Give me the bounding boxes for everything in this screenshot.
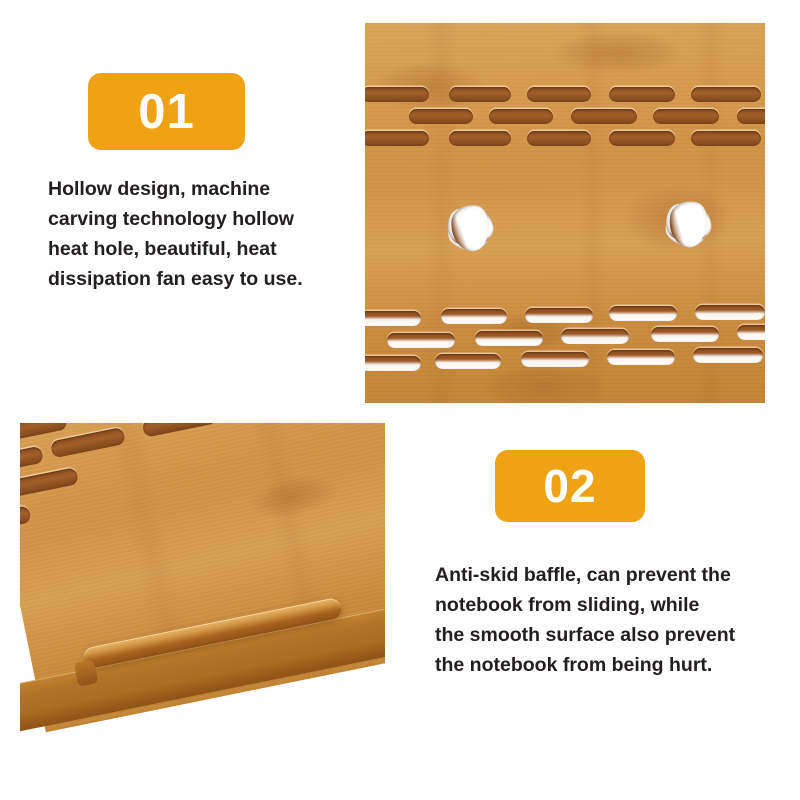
feature-photo-hollow-design [365, 23, 765, 403]
feature-caption-02-line-3: the smooth surface also prevent [435, 620, 785, 650]
vent-slot [691, 87, 761, 102]
vent-slot [365, 356, 421, 371]
feature-caption-02: Anti-skid baffle, can prevent the notebo… [435, 560, 785, 680]
feature-infographic: 01 Hollow design, machine carving techno… [0, 0, 800, 800]
feature-number-badge-02-label: 02 [543, 459, 596, 513]
flower-petal [449, 204, 490, 253]
vent-slot [561, 329, 629, 344]
feature-caption-01-line-3: heat hole, beautiful, heat [48, 234, 348, 264]
vent-slot [449, 87, 511, 102]
feature-caption-01-line-1: Hollow design, machine [48, 174, 348, 204]
feature-caption-01-line-2: carving technology hollow [48, 204, 348, 234]
vent-slot [737, 109, 765, 124]
bamboo-board [20, 423, 385, 745]
vent-slot [365, 87, 429, 102]
vent-slot [651, 327, 719, 342]
vent-slot [609, 131, 675, 146]
vent-slot [387, 333, 455, 348]
flower-cutout-left [405, 163, 535, 293]
flower-cutout-right [623, 159, 753, 289]
vent-slot [525, 308, 593, 323]
flower-petal [665, 198, 710, 250]
feature-caption-01: Hollow design, machine carving technolog… [48, 174, 348, 294]
vent-slot [527, 87, 591, 102]
vent-slot [695, 305, 765, 320]
vent-slot [441, 309, 507, 324]
feature-photo-anti-skid-baffle [20, 423, 385, 745]
vent-slot [435, 354, 501, 369]
vent-slot [365, 311, 421, 326]
vent-slot [609, 87, 675, 102]
vent-slot [609, 306, 677, 321]
vent-slot [475, 331, 543, 346]
feature-number-badge-01: 01 [88, 73, 245, 150]
vent-slot [409, 109, 473, 124]
vent-slot [527, 131, 591, 146]
feature-number-badge-02: 02 [495, 450, 645, 522]
feature-caption-01-line-4: dissipation fan easy to use. [48, 264, 348, 294]
vent-slot [521, 352, 589, 367]
feature-caption-02-line-2: notebook from sliding, while [435, 590, 785, 620]
vent-slot [737, 325, 765, 340]
vent-slot [489, 109, 553, 124]
vent-slot [691, 131, 761, 146]
feature-caption-02-line-4: the notebook from being hurt. [435, 650, 785, 680]
feature-number-badge-01-label: 01 [138, 84, 195, 140]
vent-slot [449, 131, 511, 146]
feature-caption-02-line-1: Anti-skid baffle, can prevent the [435, 560, 785, 590]
vent-slot [607, 350, 675, 365]
vent-slot [693, 348, 763, 363]
vent-slot [653, 109, 719, 124]
vent-slot [365, 131, 429, 146]
vent-slot [571, 109, 637, 124]
